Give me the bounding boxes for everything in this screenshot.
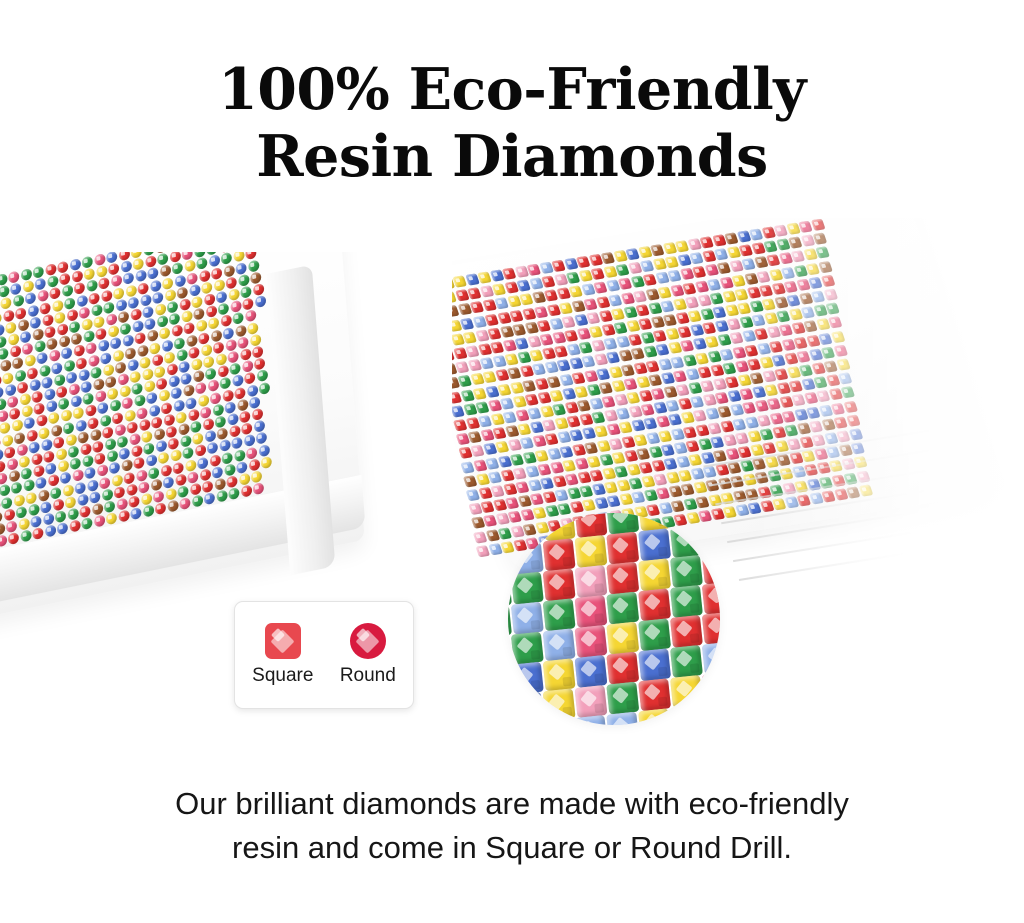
drill-bead: [96, 265, 108, 278]
drill-sparkle: [458, 292, 463, 296]
drill-sparkle: [592, 472, 597, 476]
drill-bead: [655, 344, 670, 356]
drill-bead: [87, 416, 99, 429]
drill-sparkle: [18, 446, 22, 451]
drill-bead: [180, 435, 192, 448]
drill-bead: [84, 467, 96, 480]
drill-sparkle: [723, 494, 728, 498]
drill-sparkle: [717, 323, 722, 327]
drill-sparkle: [754, 317, 759, 321]
drill-bead: [174, 274, 186, 287]
drill-bead: [599, 382, 614, 394]
drill-bead: [77, 493, 89, 506]
drill-sparkle: [688, 371, 693, 375]
drill-sparkle: [229, 416, 233, 421]
drill-bead: [121, 260, 133, 273]
drill-bead: [39, 364, 51, 377]
drill-bead: [20, 330, 32, 343]
drill-sparkle: [252, 336, 256, 341]
drill-sparkle: [222, 380, 226, 385]
drill-bead: [132, 320, 144, 333]
drill-bead: [174, 336, 186, 349]
drill-sparkle: [222, 318, 226, 323]
drill-bead: [86, 342, 98, 355]
drill-sparkle: [33, 393, 37, 398]
drill-sparkle: [670, 345, 675, 349]
drill-sparkle: [235, 253, 239, 258]
drill-sparkle: [792, 383, 797, 387]
drill-bead: [811, 291, 826, 303]
drill-bead: [0, 359, 11, 372]
magnified-drill-gem: [543, 688, 576, 721]
drill-sparkle: [54, 302, 58, 307]
drill-sparkle: [59, 264, 63, 269]
drill-bead: [236, 461, 248, 474]
drill-sparkle: [675, 373, 680, 377]
drill-sparkle: [698, 498, 703, 502]
drill-sparkle: [39, 293, 43, 298]
drill-sparkle: [179, 289, 183, 294]
drill-bead: [37, 290, 49, 303]
drill-bead: [813, 233, 828, 245]
drill-bead: [631, 491, 646, 503]
drill-sparkle: [141, 421, 145, 426]
drill-sparkle: [47, 528, 51, 533]
drill-sparkle: [742, 319, 747, 323]
drill-sparkle: [236, 452, 240, 457]
drill-bead: [251, 408, 263, 421]
drill-sparkle: [164, 280, 168, 285]
drill-bead: [537, 320, 552, 332]
drill-sparkle: [599, 442, 604, 446]
drill-sparkle: [567, 404, 572, 408]
drill-sparkle: [26, 420, 30, 425]
drill-sparkle: [82, 383, 86, 388]
drill-bead: [35, 477, 47, 490]
drill-sparkle: [139, 347, 143, 352]
drill-sparkle: [670, 273, 675, 277]
magnified-drill-gem: [543, 568, 576, 601]
drill-sparkle: [189, 275, 193, 280]
drill-bead: [39, 302, 51, 315]
drill-sparkle: [762, 287, 767, 291]
drill-sparkle: [17, 309, 21, 314]
drill-bead: [149, 341, 161, 354]
drill-bead: [142, 368, 154, 381]
drill-bead: [152, 291, 164, 304]
drill-bead: [135, 270, 147, 283]
drill-sparkle: [452, 394, 456, 398]
drill-sparkle: [544, 350, 549, 354]
drill-sparkle: [96, 455, 100, 460]
drill-bead: [256, 432, 268, 445]
drill-bead: [112, 411, 124, 424]
drill-bead: [601, 252, 616, 264]
drill-sparkle: [816, 379, 821, 383]
drill-sparkle: [649, 506, 654, 510]
drill-sparkle: [250, 262, 254, 267]
drill-sparkle: [490, 474, 495, 478]
drill-sparkle: [849, 417, 854, 421]
drill-sparkle: [651, 377, 656, 381]
drill-sparkle: [493, 416, 498, 420]
drill-bead: [502, 411, 517, 423]
drill-sparkle: [809, 337, 814, 341]
drill-sparkle: [717, 251, 722, 255]
drill-bead: [182, 447, 194, 460]
drill-sparkle: [616, 468, 621, 472]
drill-sparkle: [496, 502, 501, 506]
drill-sparkle: [777, 443, 782, 447]
drill-sparkle: [215, 282, 219, 287]
drill-bead: [84, 268, 96, 281]
drill-sparkle: [510, 442, 515, 446]
drill-sparkle: [589, 314, 594, 318]
drill-sparkle: [79, 496, 83, 501]
drill-bead: [15, 306, 27, 319]
drill-sparkle: [765, 445, 770, 449]
drill-sparkle: [4, 374, 8, 379]
drill-sparkle: [68, 374, 72, 379]
drill-sparkle: [35, 468, 39, 473]
drill-sparkle: [690, 313, 695, 317]
drill-sparkle: [196, 252, 200, 253]
drill-bead: [693, 410, 708, 422]
drill-bead: [102, 426, 114, 439]
drill-sparkle: [745, 405, 750, 409]
drill-sparkle: [826, 291, 831, 295]
drill-bead: [692, 266, 707, 278]
drill-sparkle: [22, 271, 26, 276]
drill-sparkle: [57, 513, 61, 518]
drill-bead: [183, 384, 195, 397]
drill-bead: [25, 491, 37, 504]
drill-sparkle: [132, 311, 136, 316]
drill-sparkle: [682, 271, 687, 275]
drill-bead: [196, 257, 208, 270]
drill-sparkle: [121, 450, 125, 455]
drill-bead: [105, 375, 117, 388]
drill-sparkle: [205, 296, 209, 301]
drill-sparkle: [466, 478, 471, 482]
drill-bead: [157, 253, 169, 266]
drill-bead: [30, 515, 42, 528]
drill-sparkle: [653, 462, 658, 466]
magnified-drill-gem: [670, 675, 703, 708]
drill-sparkle: [735, 421, 740, 425]
drill-sparkle: [124, 337, 128, 342]
drill-sparkle: [89, 482, 93, 487]
drill-bead: [735, 432, 750, 444]
drill-bead: [178, 423, 190, 436]
drill-sparkle: [775, 501, 780, 505]
drill-sparkle: [24, 408, 28, 413]
drill-bead: [823, 289, 838, 301]
drill-sparkle: [507, 356, 512, 360]
drill-sparkle: [452, 308, 453, 312]
drill-sparkle: [243, 425, 247, 430]
drill-bead: [667, 270, 682, 282]
drill-sparkle: [685, 357, 690, 361]
drill-sparkle: [102, 354, 106, 359]
drill-sparkle: [64, 487, 68, 492]
drill-sparkle: [594, 486, 599, 490]
drill-bead: [181, 310, 193, 323]
drill-bead: [841, 386, 856, 398]
drill-bead: [108, 325, 120, 338]
drill-bead: [160, 265, 172, 278]
drill-sparkle: [710, 425, 715, 429]
drill-sparkle: [705, 253, 710, 257]
drill-sparkle: [524, 310, 529, 314]
drill-sparkle: [117, 364, 121, 369]
drill-sparkle: [621, 424, 626, 428]
drill-sparkle: [0, 413, 3, 418]
drill-bead: [47, 275, 59, 288]
drill-sparkle: [161, 330, 165, 335]
drill-bead: [119, 385, 131, 398]
drill-sparkle: [475, 390, 480, 394]
drill-bead: [193, 370, 205, 383]
drill-sparkle: [68, 312, 72, 317]
drill-sparkle: [834, 477, 839, 481]
drill-sparkle: [463, 464, 468, 468]
drill-sparkle: [648, 363, 653, 367]
drill-sparkle: [591, 257, 596, 261]
drill-sparkle: [182, 500, 186, 505]
drill-sparkle: [650, 305, 655, 309]
drill-bead: [158, 389, 170, 402]
drill-bead: [79, 505, 91, 518]
drill-bead: [614, 465, 629, 477]
drill-sparkle: [537, 308, 542, 312]
drill-sparkle: [789, 441, 794, 445]
drill-sparkle: [797, 483, 802, 487]
drill-bead: [137, 282, 149, 295]
drill-sparkle: [481, 490, 486, 494]
drill-sparkle: [94, 443, 98, 448]
drill-bead: [747, 502, 762, 514]
drill-sparkle: [134, 323, 138, 328]
drill-sparkle: [519, 282, 524, 286]
drill-sparkle: [661, 432, 666, 436]
drill-bead: [804, 320, 819, 332]
drill-sparkle: [165, 416, 169, 421]
drill-bead: [470, 445, 485, 457]
drill-sparkle: [663, 375, 668, 379]
drill-sparkle: [145, 445, 149, 450]
drill-bead: [552, 403, 567, 415]
drill-bead: [150, 478, 162, 491]
drill-sparkle: [87, 407, 91, 412]
drill-bead: [32, 328, 44, 341]
drill-sparkle: [179, 488, 183, 493]
drill-sparkle: [31, 444, 35, 449]
drill-sparkle: [253, 473, 257, 478]
drill-sparkle: [478, 476, 483, 480]
drill-sparkle: [154, 294, 158, 299]
drill-bead: [198, 394, 210, 407]
drill-bead: [157, 315, 169, 328]
legend-label-round: Round: [340, 665, 396, 687]
drill-bead: [33, 465, 45, 478]
drill-sparkle: [520, 354, 525, 358]
drill-sparkle: [742, 391, 747, 395]
drill-bead: [759, 284, 774, 296]
drill-bead: [712, 306, 727, 318]
drill-bead: [203, 293, 215, 306]
drill-sparkle: [156, 306, 160, 311]
drill-bead: [685, 440, 700, 452]
drill-sparkle: [799, 425, 804, 429]
drill-sparkle: [537, 380, 542, 384]
drill-sparkle: [58, 388, 62, 393]
drill-bead: [239, 410, 251, 423]
drill-sparkle: [141, 359, 145, 364]
drill-sparkle: [618, 338, 623, 342]
drill-sparkle: [767, 459, 772, 463]
drill-bead: [139, 418, 151, 431]
drill-bead: [125, 284, 137, 297]
drill-bead: [244, 434, 256, 447]
drill-sparkle: [463, 320, 468, 324]
headline-line-1: 100% Eco-Friendly: [0, 56, 1024, 123]
magnified-drill-gem: [511, 542, 544, 575]
drill-bead: [502, 268, 517, 280]
drill-bead: [833, 344, 848, 356]
drill-bead: [116, 435, 128, 448]
magnified-drill-gem: [511, 572, 544, 605]
drill-sparkle: [772, 487, 777, 491]
drill-bead: [70, 457, 82, 470]
drill-sparkle: [717, 395, 722, 399]
drill-sparkle: [105, 366, 109, 371]
drill-bead: [699, 236, 714, 248]
drill-bead: [114, 486, 126, 499]
drill-bead: [161, 339, 173, 352]
drill-bead: [710, 292, 725, 304]
drill-sparkle: [254, 348, 258, 353]
drill-bead: [513, 467, 528, 479]
drill-bead: [581, 356, 596, 368]
drill-sparkle: [562, 376, 567, 380]
drill-sparkle: [594, 271, 599, 275]
drill-bead: [130, 308, 142, 321]
drill-bead: [519, 294, 534, 306]
drill-sparkle: [501, 530, 506, 534]
drill-sparkle: [227, 341, 231, 346]
drill-sparkle: [43, 441, 47, 446]
drill-sparkle: [606, 340, 611, 344]
drill-sparkle: [764, 229, 769, 233]
drill-bead: [2, 371, 14, 384]
drill-sparkle: [16, 434, 20, 439]
drill-bead: [211, 267, 223, 280]
drill-sparkle: [35, 269, 39, 274]
drill-sparkle: [816, 235, 821, 239]
drill-bead: [29, 378, 41, 391]
drill-sparkle: [841, 447, 846, 451]
drill-bead: [102, 363, 114, 376]
drill-bead: [639, 462, 654, 474]
magnified-drill-gem: [670, 645, 703, 678]
legend-item-square: Square: [252, 623, 313, 687]
drill-sparkle: [518, 484, 523, 488]
drill-bead: [23, 280, 35, 293]
drill-sparkle: [211, 457, 215, 462]
drill-sparkle: [559, 362, 564, 366]
drill-bead: [62, 285, 74, 298]
drill-bead: [253, 482, 265, 495]
drill-bead: [717, 262, 732, 274]
drill-bead: [16, 506, 28, 519]
drill-sparkle: [48, 403, 52, 408]
drill-sparkle: [229, 353, 233, 358]
drill-bead: [0, 398, 6, 411]
drill-sparkle: [175, 464, 179, 469]
drill-bead: [199, 269, 211, 282]
drill-sparkle: [749, 361, 754, 365]
drill-sparkle: [767, 315, 772, 319]
drill-bead: [150, 279, 162, 292]
drill-sparkle: [178, 414, 182, 419]
drill-sparkle: [224, 392, 228, 397]
drill-sparkle: [114, 414, 118, 419]
drill-sparkle: [492, 272, 497, 276]
drill-sparkle: [579, 402, 584, 406]
drill-sparkle: [786, 283, 791, 287]
drill-bead: [20, 530, 32, 543]
drill-sparkle: [209, 445, 213, 450]
drill-sparkle: [151, 407, 155, 412]
drill-sparkle: [833, 333, 838, 337]
drill-bead: [81, 256, 93, 269]
drill-sparkle: [636, 293, 641, 297]
drill-sparkle: [183, 313, 187, 318]
drill-sparkle: [520, 426, 525, 430]
drill-sparkle: [245, 301, 249, 306]
drill-bead: [161, 401, 173, 414]
drill-bead: [207, 442, 219, 455]
drill-sparkle: [515, 326, 520, 330]
drill-sparkle: [452, 380, 453, 384]
drill-sparkle: [607, 484, 612, 488]
drill-sparkle: [609, 426, 614, 430]
drill-sparkle: [225, 329, 229, 334]
drill-sparkle: [0, 401, 1, 406]
drill-sparkle: [189, 474, 193, 479]
drill-bead: [16, 443, 28, 456]
drill-sparkle: [609, 354, 614, 358]
drill-bead: [141, 430, 153, 443]
drill-sparkle: [242, 351, 246, 356]
drill-bead: [2, 434, 14, 447]
drill-sparkle: [148, 457, 152, 462]
drill-sparkle: [240, 277, 244, 282]
drill-sparkle: [779, 385, 784, 389]
drill-sparkle: [824, 349, 829, 353]
drill-sparkle: [100, 280, 104, 285]
drill-sparkle: [619, 410, 624, 414]
drill-sparkle: [698, 427, 703, 431]
drill-bead: [100, 414, 112, 427]
drill-sparkle: [636, 436, 641, 440]
drill-sparkle: [85, 333, 89, 338]
drill-sparkle: [787, 355, 792, 359]
drill-sparkle: [567, 332, 572, 336]
drill-sparkle: [97, 393, 101, 398]
drill-sparkle: [120, 513, 124, 518]
